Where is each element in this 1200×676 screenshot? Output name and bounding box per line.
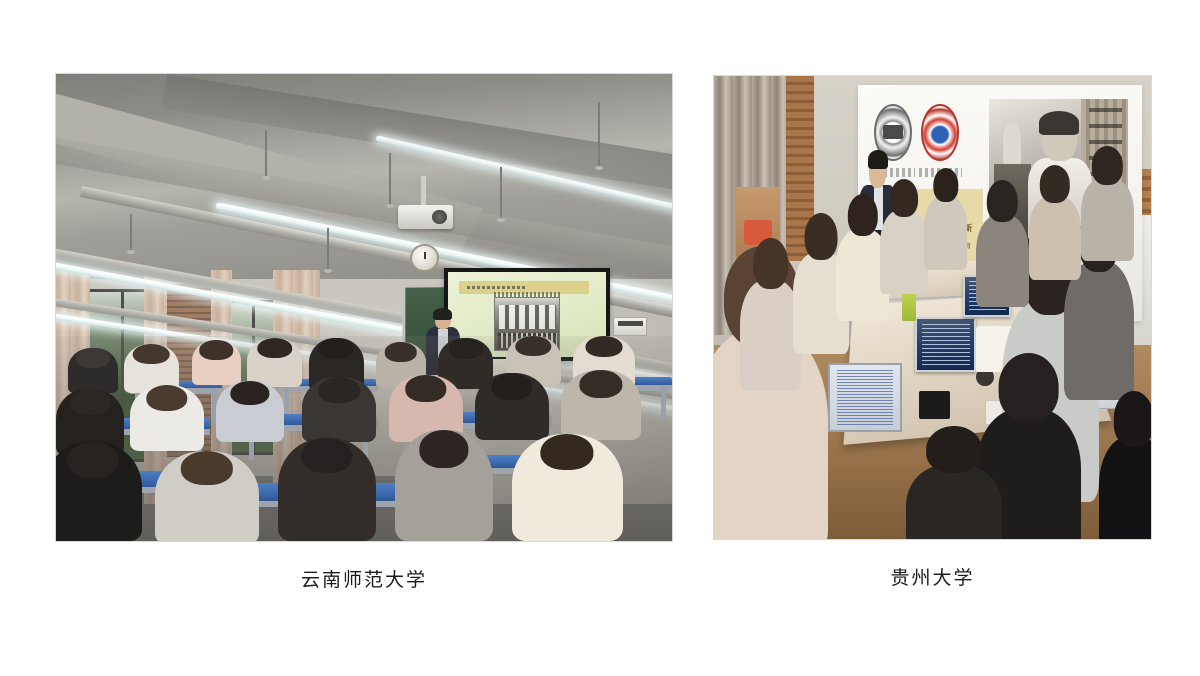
student [192,340,241,385]
light-hanger-rod [327,228,329,270]
light-hanger-rod [500,167,502,218]
figure-right: 薪火相传 · 守正创新 国外日语学院的研究生教育 贵州大学外国语学院研究生教育交… [713,75,1152,540]
student [247,338,302,387]
attendee [1064,261,1134,400]
attendee [1029,196,1081,279]
slide-canvas: 云南师范大学 [0,0,1200,676]
light-hanger-rod [130,214,132,251]
attendee [924,196,968,270]
ceiling-projector [398,205,453,229]
student [68,348,117,393]
student [216,381,284,443]
light-hanger-rod [598,102,600,167]
phone[interactable] [919,391,950,419]
student [561,370,641,440]
attendee [1081,178,1133,261]
university-logo-color-icon [921,104,959,161]
student [155,451,260,542]
attendee [880,210,928,293]
caption-right: 贵州大学 [713,563,1152,590]
student [475,373,549,441]
caption-left: 云南师范大学 [55,565,673,592]
attendee [1099,437,1152,540]
wall-clock [410,244,438,272]
student [395,430,494,541]
lecture-hall-photo [55,73,673,542]
wall-control-panel [613,317,646,337]
light-hanger-rod [389,153,391,204]
student [130,385,204,451]
tablet[interactable] [828,363,902,432]
seminar-room-photo: 薪火相传 · 守正创新 国外日语学院的研究生教育 贵州大学外国语学院研究生教育交… [713,75,1152,540]
student [55,442,142,541]
student [302,377,376,443]
laptop[interactable] [915,317,976,373]
student [512,434,623,541]
student [278,438,377,541]
attendee [976,215,1028,308]
light-hanger-rod [265,130,267,177]
attendee [906,465,1002,540]
figure-left: 云南师范大学 [55,73,673,542]
student-seating-area [56,336,672,541]
